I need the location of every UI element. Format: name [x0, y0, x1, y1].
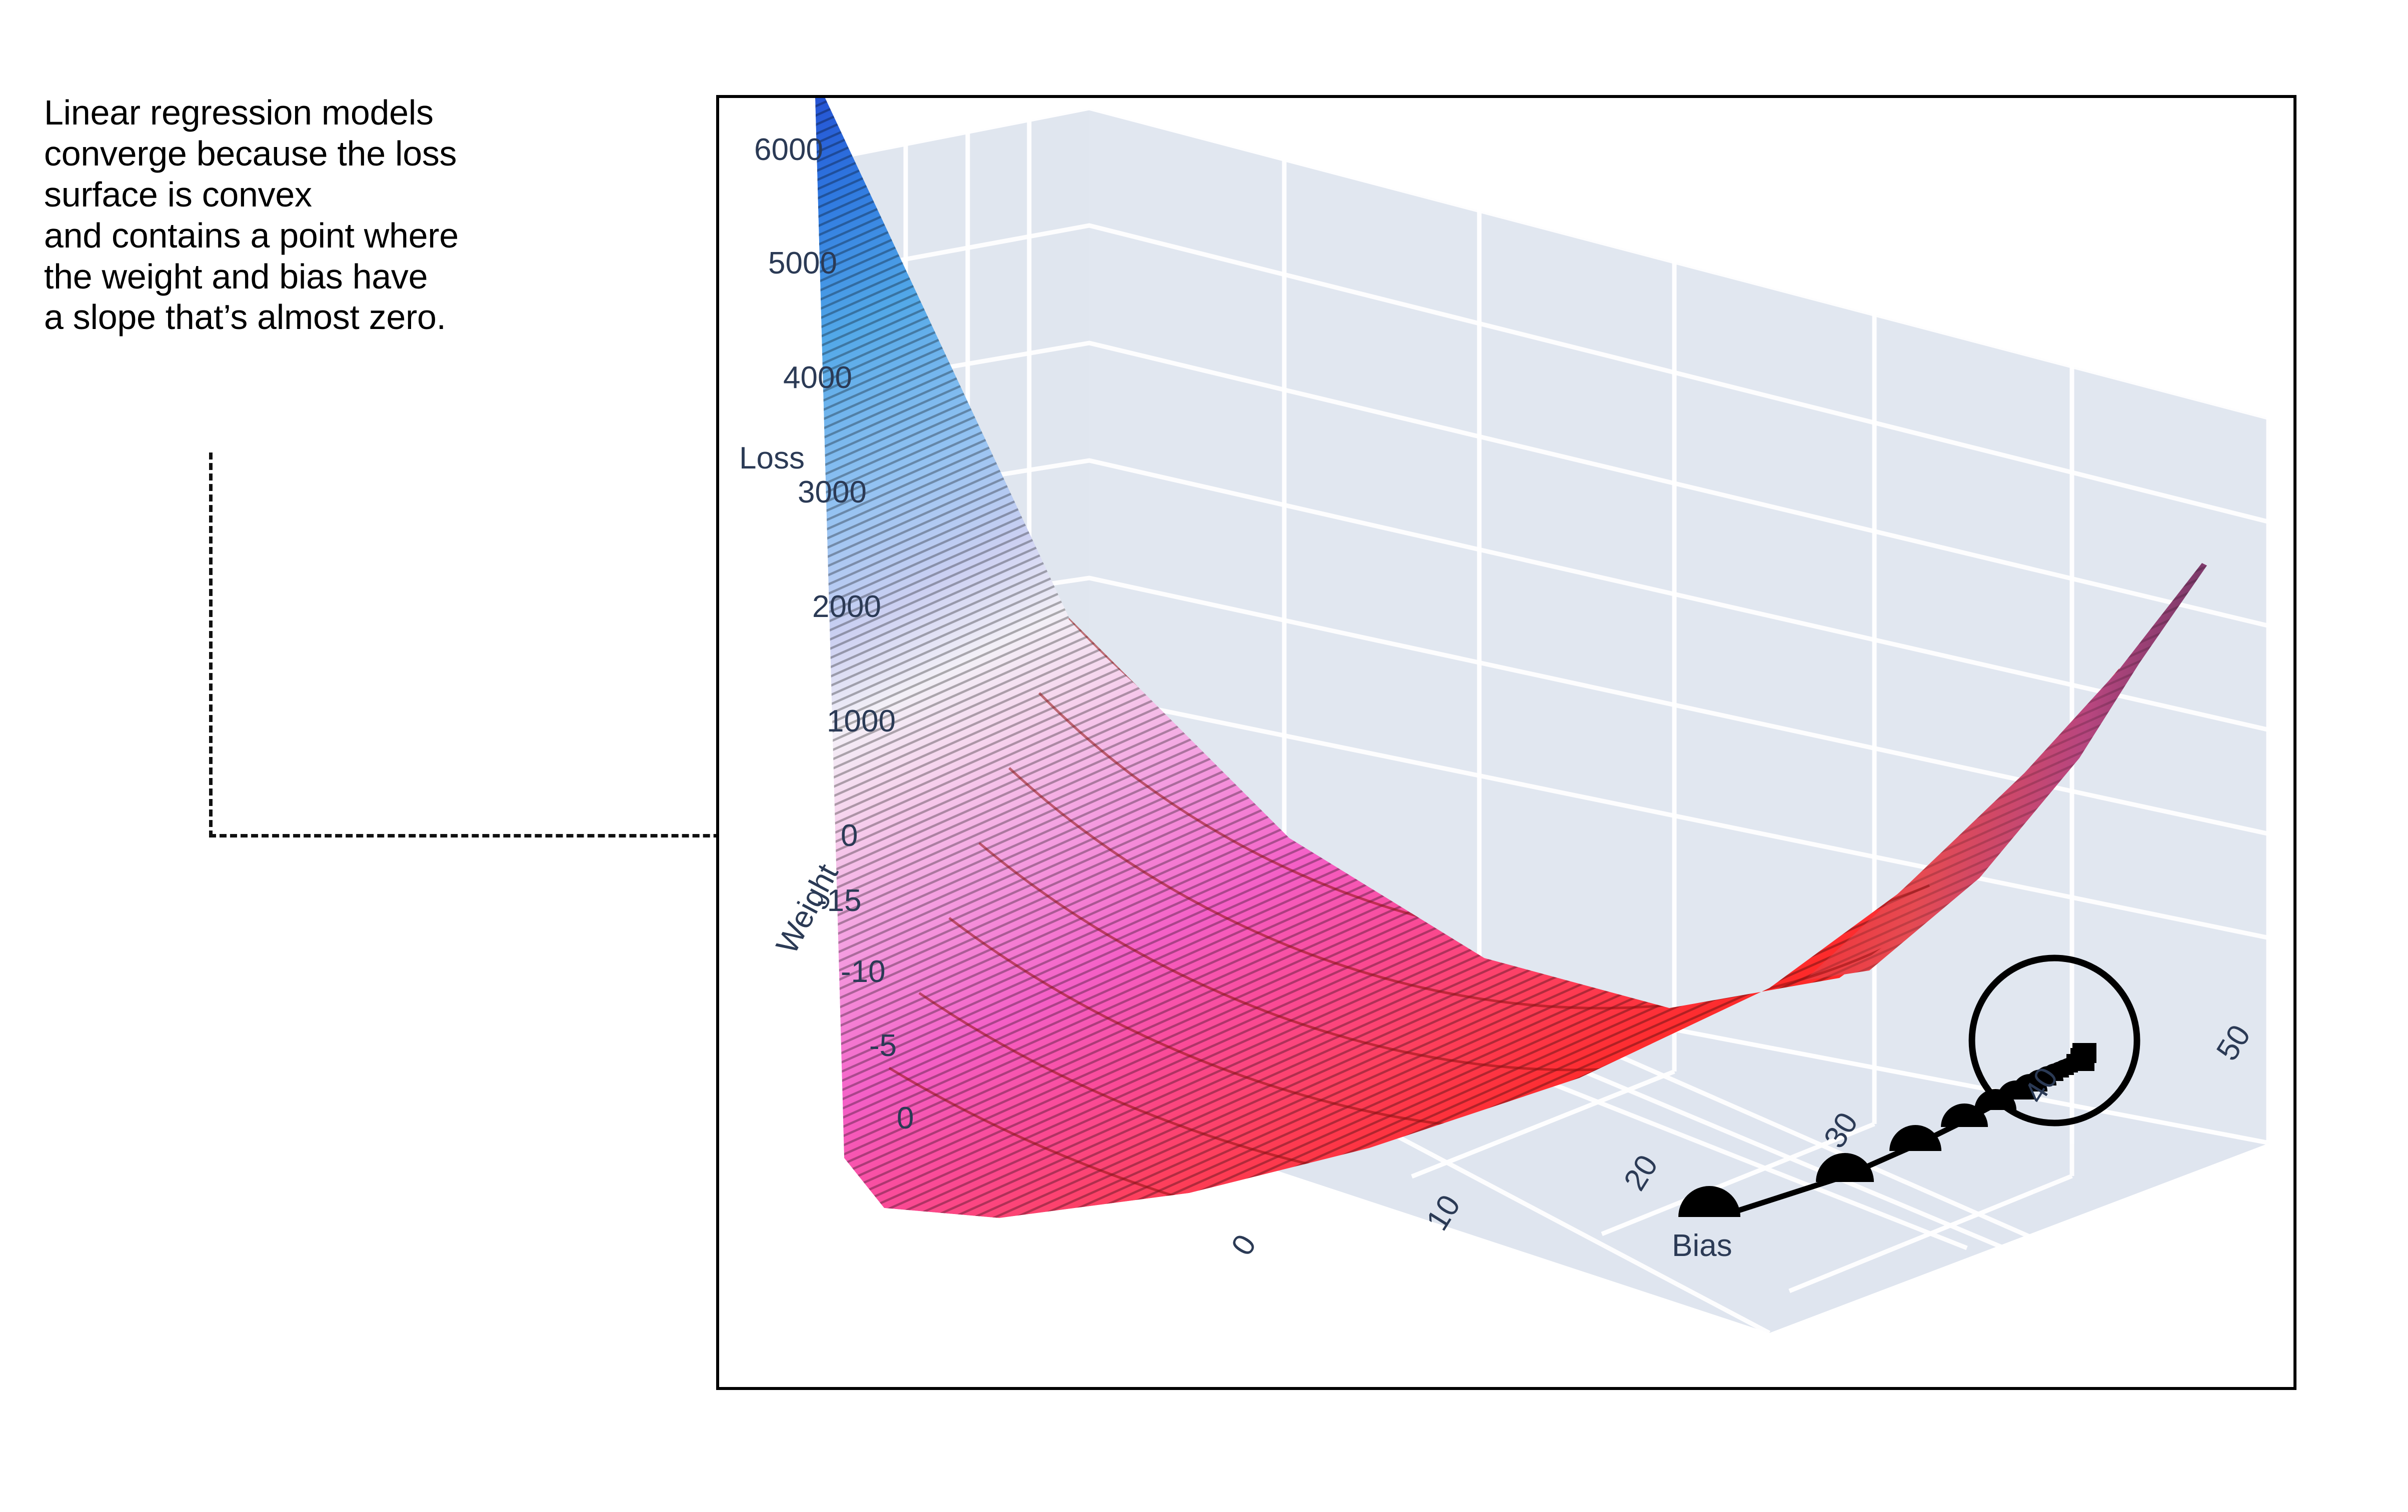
tick-loss-6000: 6000 [754, 132, 823, 167]
axis-label-bias: Bias [1672, 1228, 1732, 1263]
tick-loss-3000: 3000 [798, 474, 867, 510]
tick-weight-0: 0 [897, 1100, 914, 1136]
axis-label-loss: Loss [739, 440, 805, 476]
tick-loss-2000: 2000 [812, 589, 881, 624]
surface-plot-canvas [719, 98, 2293, 1387]
tick-weight--10: -10 [841, 954, 886, 989]
callout-leader-vertical [209, 452, 213, 837]
tick-loss-1000: 1000 [827, 703, 896, 739]
tick-loss-0: 0 [841, 818, 858, 853]
annotation-text: Linear regression models converge becaus… [44, 92, 659, 338]
tick-weight--5: -5 [869, 1028, 897, 1063]
loss-surface-figure: 6000 5000 4000 3000 2000 1000 0 Loss -15… [716, 95, 2296, 1390]
tick-loss-4000: 4000 [783, 360, 852, 395]
tick-loss-5000: 5000 [768, 245, 837, 281]
